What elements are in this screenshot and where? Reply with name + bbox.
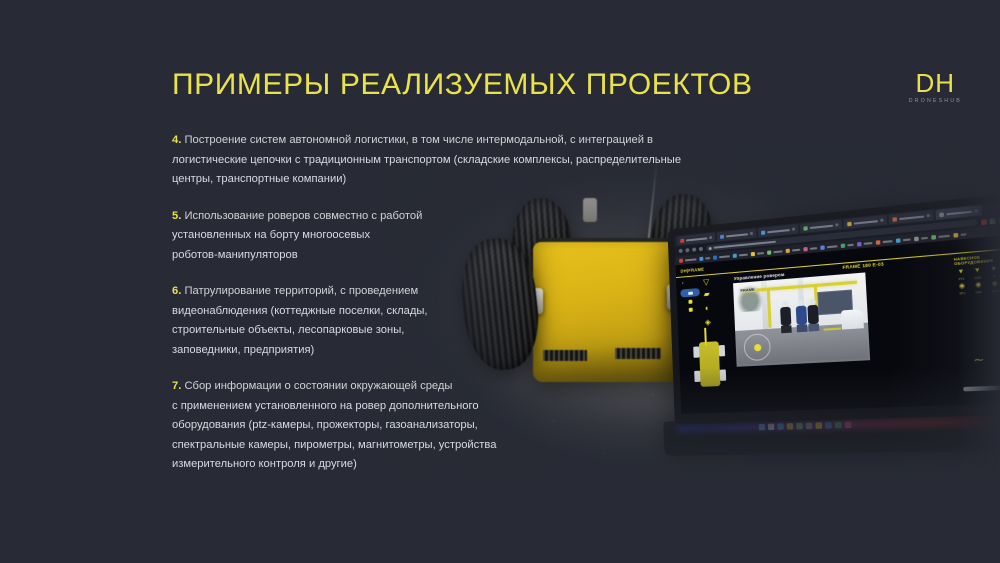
list-item-text: Сбор информации о состоянии окружающей с… (184, 380, 452, 392)
list-item-text: оборудования (ptz-камеры, прожекторы, га… (172, 416, 792, 436)
equipment-label: SPC (956, 292, 969, 296)
equipment-label: PTZ (955, 277, 968, 281)
equipment-item[interactable]: ◉SPC (955, 283, 969, 296)
bookmark-icon[interactable] (989, 218, 995, 224)
sensor-icon: ◉ (955, 283, 968, 292)
list-item-text: роботов-манипуляторов (172, 246, 792, 266)
waveform-icon: ∼ (973, 355, 985, 368)
equipment-item[interactable]: ◉LED (972, 282, 986, 295)
tab-title (946, 210, 972, 215)
bookmark-item[interactable] (857, 240, 873, 246)
list-item-text: логистические цепочки с традиционным тра… (172, 151, 792, 171)
bookmark-item[interactable] (931, 233, 950, 239)
slide-root: DH|FRAME › ▽ ▰ (0, 0, 1000, 563)
equipment-item[interactable]: ◉CAM (988, 280, 1000, 293)
list-item-text: центры, транспортные компании) (172, 170, 792, 190)
equipment-grid[interactable]: ▼PTZ ▼GAS ▼IR ▼MAG ◉SPC ◉LED ◉CAM ◉NAV (954, 264, 1000, 295)
list-item: 5. Использование роверов совместно с раб… (172, 207, 792, 266)
taskbar-icon-media[interactable] (835, 421, 842, 428)
list-item-text: Построение систем автономной логистики, … (184, 134, 653, 146)
bookmark-item[interactable] (914, 235, 928, 241)
close-icon[interactable] (792, 227, 795, 230)
brand-logo: DH DRONESHUB (909, 70, 962, 104)
sensor-icon: ◉ (972, 282, 985, 291)
list-item-first-line: 6. Патрулирование территорий, с проведен… (172, 282, 792, 302)
bookmark-item[interactable] (803, 246, 817, 251)
list-item-text: строительные объекты, лесопарковые зоны, (172, 321, 792, 341)
browser-actions[interactable] (981, 216, 1000, 225)
person-torso (807, 304, 819, 324)
list-item-text: видеонаблюдения (коттеджные поселки, скл… (172, 302, 792, 322)
taskbar-icon-mail[interactable] (796, 422, 803, 429)
list-item-number: 5. (172, 210, 181, 222)
bookmark-item[interactable] (841, 242, 854, 247)
list-item-text: спектральные камеры, пирометры, магнитом… (172, 436, 792, 456)
favicon-video (892, 217, 897, 222)
list-item-number: 4. (172, 134, 181, 146)
app-equipment-panel: НАВЕСНОЕ ОБОРУДОВАНИЕ ▼PTZ ▼GAS ▼IR ▼MAG… (950, 248, 1000, 405)
antenna-icon: ▼ (971, 267, 984, 276)
page-title: ПРИМЕРЫ РЕАЛИЗУЕМЫХ ПРОЕКТОВ (172, 68, 753, 102)
equipment-item[interactable]: ▼GAS (971, 267, 985, 280)
antenna-icon: ▼ (987, 266, 1000, 275)
tab-title (810, 224, 834, 228)
list-item-text: Использование роверов совместно с работо… (184, 210, 422, 222)
extension-icon[interactable] (981, 219, 987, 225)
close-icon[interactable] (926, 214, 930, 218)
taskbar-icon-store[interactable] (806, 422, 813, 429)
favicon-tasks (803, 226, 807, 231)
equipment-label: GAS (971, 276, 984, 280)
bookmark-item[interactable] (896, 237, 911, 243)
list-item-number: 6. (172, 285, 181, 297)
list-item-first-line: 5. Использование роверов совместно с раб… (172, 207, 792, 227)
equipment-label: IR (988, 275, 1000, 279)
list-item: 7. Сбор информации о состоянии окружающе… (172, 377, 792, 475)
list-item-first-line: 7. Сбор информации о состоянии окружающе… (172, 377, 792, 397)
close-icon[interactable] (974, 209, 978, 213)
status-bar (963, 385, 1000, 392)
person-torso (796, 305, 807, 325)
list-item-text: установленных на борту многоосевых (172, 226, 792, 246)
equipment-label: LED (972, 290, 985, 294)
favicon-dhframe (939, 212, 944, 217)
sensor-icon: ◉ (988, 280, 1000, 289)
close-icon[interactable] (880, 218, 884, 222)
tab-title (899, 215, 924, 220)
list-item: 4. Построение систем автономной логистик… (172, 131, 792, 190)
logo-wordmark: DRONESHUB (909, 98, 962, 104)
taskbar-icon-settings[interactable] (845, 421, 852, 428)
list-item-first-line: 4. Построение систем автономной логистик… (172, 131, 792, 151)
list-item-text: с применением установленного на ровер до… (172, 397, 792, 417)
close-icon[interactable] (835, 223, 838, 226)
taskbar-icon-telegram[interactable] (825, 422, 832, 429)
list-item-text: измерительного контроля и другие) (172, 455, 792, 475)
list-item-text: заповедники, предприятия) (172, 341, 792, 361)
bookmark-item[interactable] (820, 244, 837, 250)
equipment-item[interactable]: ▼PTZ (954, 268, 968, 281)
equipment-panel-title: НАВЕСНОЕ ОБОРУДОВАНИЕ (954, 252, 1000, 266)
list-item-text: Патрулирование территорий, с проведением (184, 285, 418, 297)
antenna-icon: ▼ (954, 268, 967, 277)
projects-list: 4. Построение систем автономной логистик… (172, 131, 792, 492)
list-item: 6. Патрулирование территорий, с проведен… (172, 282, 792, 360)
bookmark-item[interactable] (953, 232, 966, 238)
tab-title (854, 220, 878, 225)
logo-mark: DH (909, 70, 962, 96)
favicon-project (847, 221, 852, 226)
taskbar-icon-folder[interactable] (815, 422, 822, 429)
equipment-item[interactable]: ▼IR (987, 266, 1000, 279)
equipment-label: CAM (989, 289, 1000, 293)
bookmark-item[interactable] (876, 238, 893, 244)
list-item-number: 7. (172, 380, 181, 392)
